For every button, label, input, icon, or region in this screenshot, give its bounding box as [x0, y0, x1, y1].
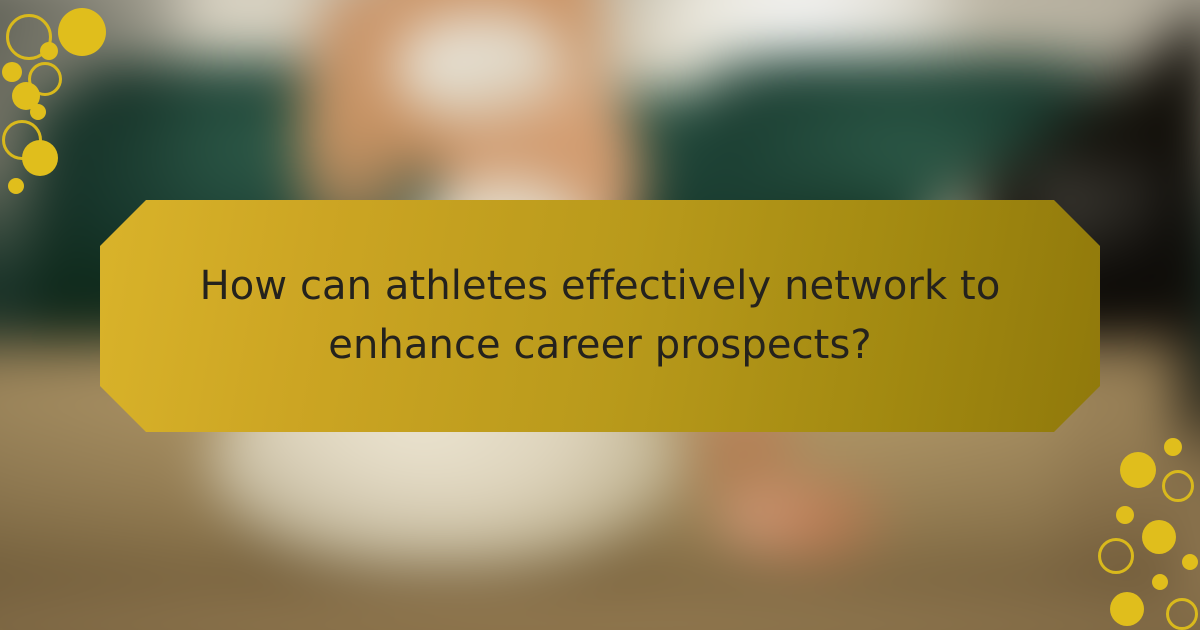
headline-banner: How can athletes effectively network to … [100, 200, 1100, 432]
headline-text: How can athletes effectively network to … [100, 257, 1100, 375]
quote-card: How can athletes effectively network to … [0, 0, 1200, 630]
